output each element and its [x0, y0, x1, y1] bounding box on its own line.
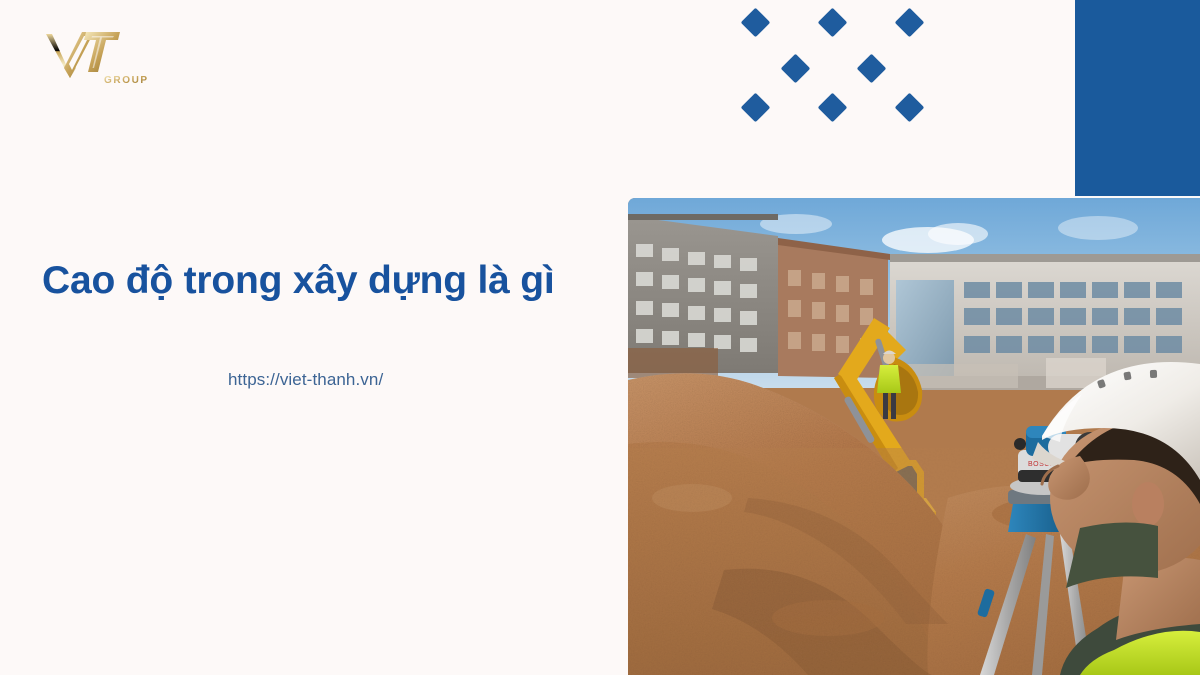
- construction-site-surveying-photo: BOSCH: [628, 198, 1200, 675]
- diamond-pattern-decoration: [728, 2, 924, 120]
- slide-canvas: GROUP Cao độ trong xây dựng là gì https:…: [0, 0, 1200, 675]
- blue-accent-block: [1075, 0, 1200, 196]
- diamond-icon: [741, 8, 771, 38]
- diamond-icon: [857, 54, 887, 84]
- diamond-icon: [781, 54, 811, 84]
- vt-group-logo[interactable]: GROUP: [36, 26, 156, 88]
- diamond-icon: [895, 93, 925, 123]
- diamond-icon: [895, 8, 925, 38]
- vt-group-logo-wordmark: GROUP: [104, 75, 149, 86]
- diamond-icon: [818, 93, 848, 123]
- page-title: Cao độ trong xây dựng là gì: [42, 258, 602, 304]
- diamond-icon: [741, 93, 771, 123]
- apartment-building-brick: [778, 238, 890, 378]
- photo-illustration: BOSCH: [628, 198, 1200, 675]
- website-url[interactable]: https://viet-thanh.vn/: [228, 370, 383, 390]
- vt-group-logo-mark: GROUP: [36, 26, 156, 88]
- diamond-icon: [818, 8, 848, 38]
